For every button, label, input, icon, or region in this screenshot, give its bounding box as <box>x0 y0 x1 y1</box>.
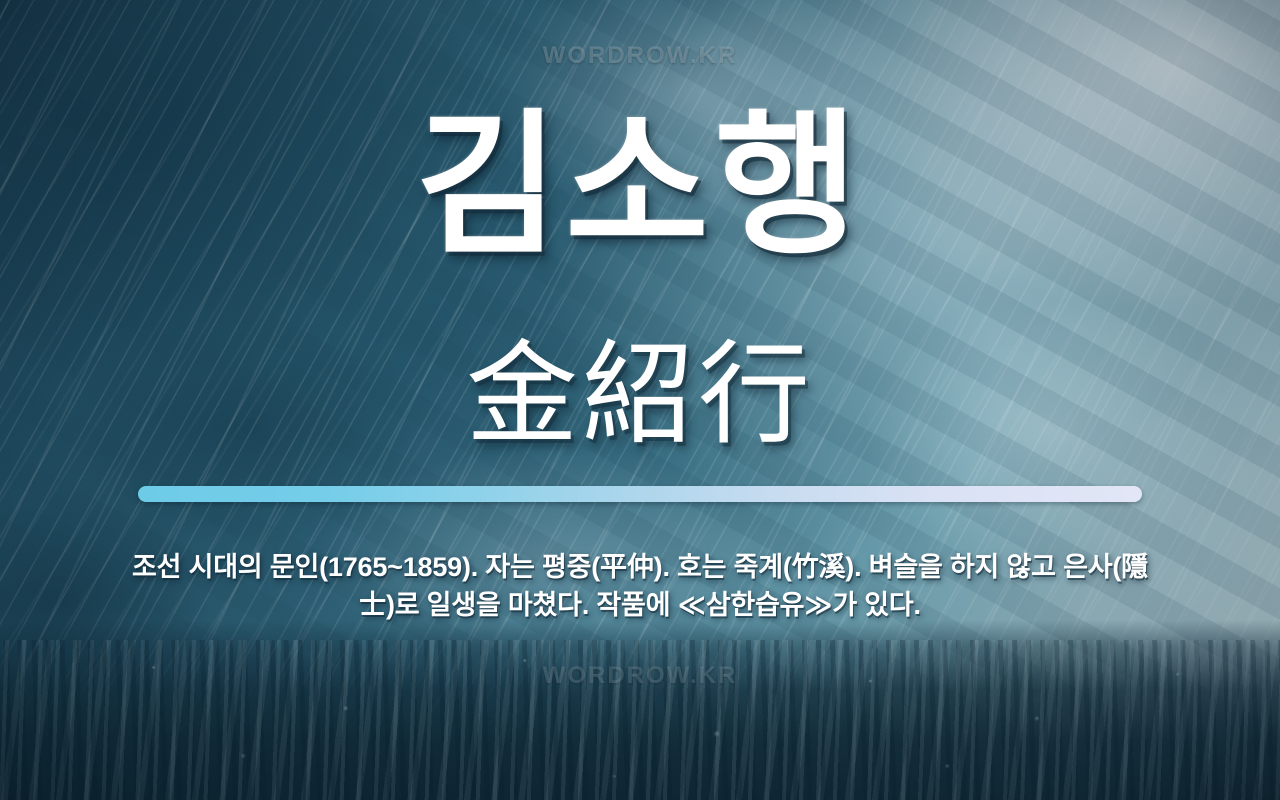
rain-background-card: WORDROW.KR 김소행 金紹行 조선 시대의 문인(1765~1859).… <box>0 0 1280 800</box>
gradient-divider-bar <box>138 486 1142 502</box>
watermark-bottom: WORDROW.KR <box>0 662 1280 690</box>
page-title: 김소행 <box>0 92 1280 280</box>
page-subtitle-hanja: 金紹行 <box>0 330 1280 462</box>
definition-text: 조선 시대의 문인(1765~1859). 자는 평중(平仲). 호는 죽계(竹… <box>120 548 1160 624</box>
